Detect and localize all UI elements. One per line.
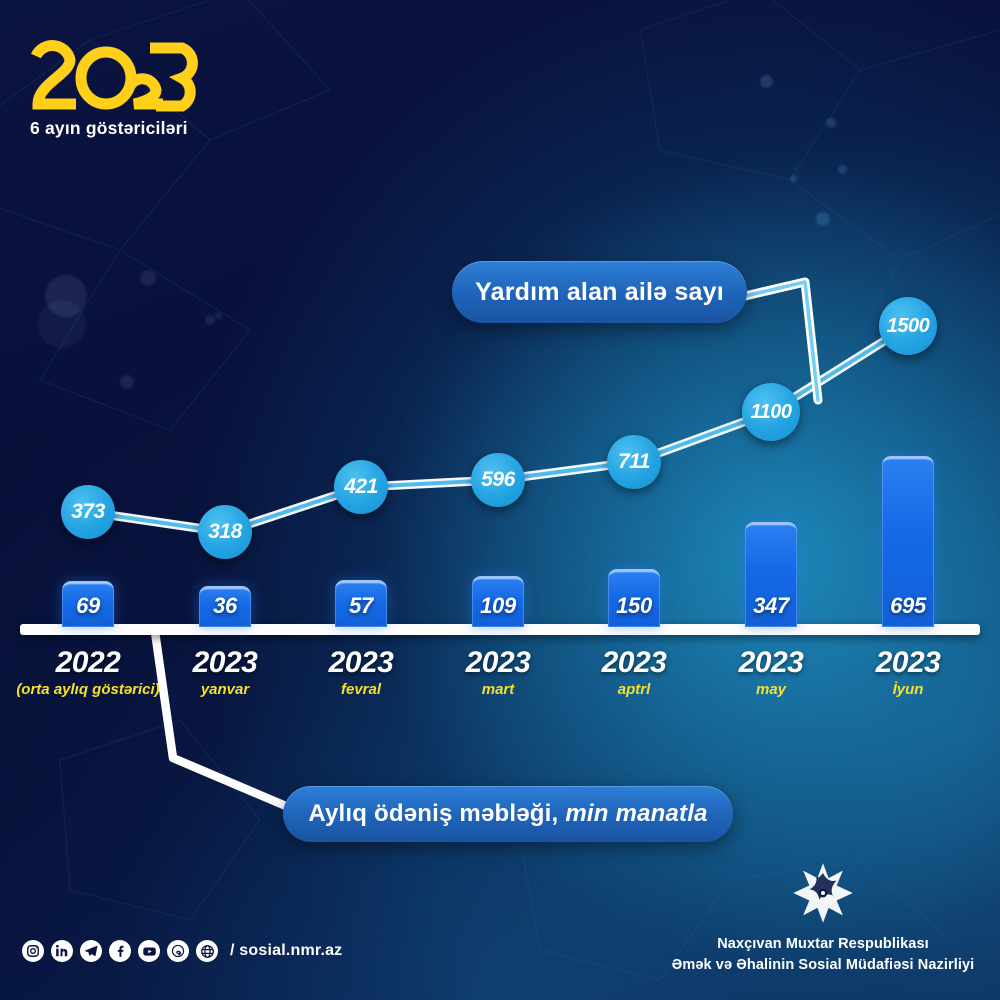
linkedin-icon[interactable]	[51, 940, 73, 962]
bar-value: 695	[882, 593, 934, 619]
infographic-canvas: 6 ayın göstəriciləri 69 36 57 1	[0, 0, 1000, 1000]
social-links-bar[interactable]: / sosial.nmr.az	[22, 940, 342, 962]
bar-value: 69	[62, 593, 114, 619]
line-node-may: 1100	[742, 383, 800, 441]
line-callout-leader	[0, 0, 1000, 1000]
line-node-value: 421	[344, 475, 378, 499]
line-series-callout: Yardım alan ailə sayı	[452, 261, 747, 323]
line-node-value: 1100	[750, 401, 791, 424]
background-network-pattern	[0, 0, 1000, 1000]
xaxis-year: 2022	[3, 646, 173, 680]
ministry-line-2: Əmək və Əhalinin Sosial Müdafiəsi Nazirl…	[668, 955, 978, 976]
bar-yanvar: 36	[199, 586, 251, 627]
xaxis-year: 2023	[686, 646, 856, 680]
line-node-2022: 373	[61, 485, 115, 539]
bar-series-callout: Aylıq ödəniş məbləği, min manatla	[283, 786, 733, 842]
xaxis-period: yanvar	[140, 681, 310, 698]
xaxis-period: fevral	[276, 681, 446, 698]
globe-icon[interactable]	[196, 940, 218, 962]
line-node-yanvar: 318	[198, 505, 252, 559]
eight-pointed-star-emblem-icon	[792, 862, 854, 924]
xaxis-period: mart	[413, 681, 583, 698]
bokeh-dot	[38, 300, 86, 348]
bar-value: 150	[608, 593, 660, 619]
xaxis-label-2022: 2022 (orta aylıq göstərici)	[3, 646, 173, 698]
instagram-icon[interactable]	[22, 940, 44, 962]
xaxis-year: 2023	[413, 646, 583, 680]
telegram-icon[interactable]	[80, 940, 102, 962]
line-series-callout-label: Yardım alan ailə sayı	[475, 278, 724, 307]
bar-callout-leader	[0, 0, 1000, 1000]
bokeh-dot	[215, 312, 222, 319]
bokeh-dot	[838, 165, 847, 174]
xaxis-label-iyun: 2023 İyun	[823, 646, 993, 698]
bar-fevral: 57	[335, 580, 387, 627]
logo-block: 6 ayın göstəriciləri	[30, 34, 260, 139]
line-node-value: 711	[618, 450, 650, 474]
line-node-fevral: 421	[334, 460, 388, 514]
bokeh-dot	[816, 212, 830, 226]
line-series-path	[0, 0, 1000, 1000]
bokeh-dot	[760, 75, 773, 88]
bokeh-dot	[140, 270, 156, 286]
line-node-value: 318	[208, 520, 242, 544]
line-node-value: 1500	[887, 315, 930, 338]
xaxis-label-fevral: 2023 fevral	[276, 646, 446, 698]
bar-value: 36	[199, 593, 251, 619]
xaxis-year: 2023	[140, 646, 310, 680]
xaxis-period: may	[686, 681, 856, 698]
ministry-block: Naxçıvan Muxtar Respublikası Əmək və Əha…	[668, 862, 978, 976]
bar-value: 347	[745, 593, 797, 619]
bar-value: 57	[335, 593, 387, 619]
line-node-value: 373	[71, 500, 105, 524]
bar-series-callout-unit: min manatla	[565, 800, 707, 828]
line-node-aptrl: 711	[607, 435, 661, 489]
logo-2023-graphic	[30, 34, 205, 112]
bar-may: 347	[745, 522, 797, 627]
website-url[interactable]: / sosial.nmr.az	[230, 942, 342, 960]
line-node-mart: 596	[471, 453, 525, 507]
xaxis-label-mart: 2023 mart	[413, 646, 583, 698]
chart-baseline	[20, 624, 980, 635]
bokeh-dot	[120, 375, 134, 389]
line-node-value: 596	[481, 468, 515, 492]
bokeh-dot	[790, 175, 797, 182]
xaxis-year: 2023	[549, 646, 719, 680]
xaxis-period: aptrl	[549, 681, 719, 698]
xaxis-label-yanvar: 2023 yanvar	[140, 646, 310, 698]
bar-2022: 69	[62, 581, 114, 627]
bar-iyun: 695	[882, 456, 934, 627]
bar-aptrl: 150	[608, 569, 660, 627]
bar-value: 109	[472, 593, 524, 619]
ministry-line-1: Naxçıvan Muxtar Respublikası	[668, 934, 978, 955]
threads-icon[interactable]	[167, 940, 189, 962]
youtube-icon[interactable]	[138, 940, 160, 962]
xaxis-label-may: 2023 may	[686, 646, 856, 698]
line-node-iyun: 1500	[879, 297, 937, 355]
bokeh-dot	[826, 118, 836, 128]
facebook-icon[interactable]	[109, 940, 131, 962]
chart-container: 69 36 57 109 150 347 695 373 318 421	[0, 0, 1000, 1000]
xaxis-period: İyun	[823, 681, 993, 698]
bar-mart: 109	[472, 576, 524, 627]
xaxis-year: 2023	[823, 646, 993, 680]
bokeh-dot	[205, 315, 215, 325]
xaxis-label-aptrl: 2023 aptrl	[549, 646, 719, 698]
bar-series-callout-label: Aylıq ödəniş məbləği,	[308, 800, 558, 828]
logo-subtitle: 6 ayın göstəriciləri	[30, 118, 260, 139]
xaxis-period: (orta aylıq göstərici)	[3, 681, 173, 698]
xaxis-year: 2023	[276, 646, 446, 680]
